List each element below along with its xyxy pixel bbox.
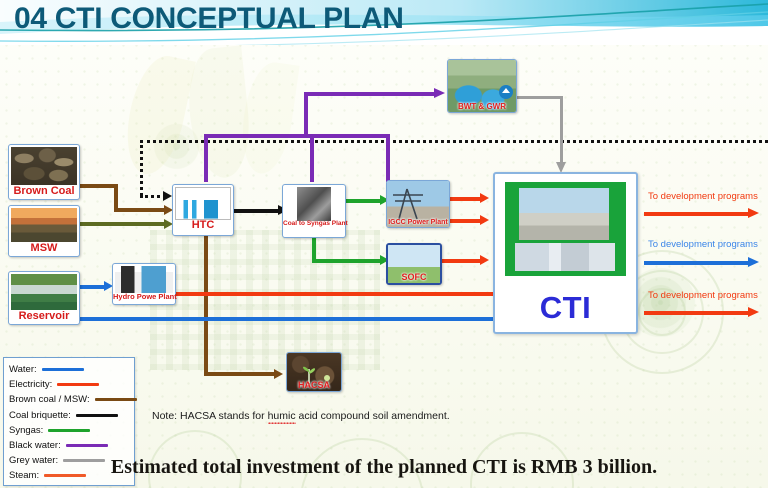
line-htc-to-syngasplant — [234, 209, 282, 213]
reservoir-image — [11, 274, 77, 310]
legend-label-syngas: Syngas: — [9, 425, 43, 436]
line-grey-down-to-cti — [560, 96, 563, 164]
legend-row-brown-coal-msw: Brown coal / MSW: — [9, 392, 134, 407]
line-sofc-to-cti — [440, 259, 484, 263]
line-syngas-to-sofc — [312, 259, 384, 263]
arrowhead-sofc-cti — [480, 255, 489, 265]
node-coal-to-syngas-plant-label: Coal to Syngas Plant — [283, 221, 345, 228]
output-label-1: To development programs — [648, 191, 758, 202]
htc-image — [175, 187, 231, 220]
node-htc[interactable]: HTC — [172, 184, 234, 236]
node-hacsa[interactable]: HACSA — [286, 352, 342, 392]
arrowhead-output-3 — [748, 307, 759, 317]
line-igcc-to-cti-2 — [450, 219, 484, 223]
cti-equipment-photo — [515, 243, 615, 271]
line-browncoal-to-htc — [114, 208, 166, 212]
line-reservoir-to-cti — [48, 317, 493, 321]
line-briquette-bus — [140, 140, 768, 143]
node-bwt-gwr[interactable]: BWT & GWR — [447, 59, 517, 113]
legend-swatch-water — [42, 368, 84, 371]
node-bwt-gwr-label: BWT & GWR — [448, 102, 516, 111]
arrowhead-igcc-cti-1 — [480, 193, 489, 203]
line-browncoal-down — [114, 184, 118, 210]
legend-row-electricity: Electricity: — [9, 377, 134, 392]
legend-label-coal-briquette: Coal briquette: — [9, 410, 71, 421]
line-htc-down-brown — [204, 236, 208, 375]
line-hydro-to-cti — [176, 292, 493, 296]
node-msw-label: MSW — [9, 243, 79, 255]
line-purple-sub-bus — [204, 134, 390, 138]
arrowhead-output-1 — [748, 208, 759, 218]
line-reservoir-to-hydro — [78, 285, 106, 289]
line-purple-up-to-bus — [304, 92, 308, 136]
cti-plant-photo — [519, 188, 609, 240]
node-hydro-power-plant-label: Hydro Powe Plant — [113, 293, 175, 301]
legend-label-brown-coal-msw: Brown coal / MSW: — [9, 394, 90, 405]
output-label-2: To development programs — [648, 239, 758, 250]
node-igcc-power-plant[interactable]: IGCC Power Plant — [386, 180, 450, 228]
line-htc-to-hacsa — [204, 372, 276, 376]
line-output-3 — [644, 311, 752, 315]
legend-row-water: Water: — [9, 362, 134, 377]
line-grey-from-bwt — [516, 96, 562, 99]
node-sofc-label: SOFC — [388, 272, 440, 282]
legend-swatch-electricity — [57, 383, 99, 386]
page-title: 04 CTI CONCEPTUAL PLAN — [14, 2, 404, 36]
node-hacsa-label: HACSA — [287, 380, 341, 390]
output-label-3: To development programs — [648, 290, 758, 301]
arrowhead-purple-bwt — [434, 88, 445, 98]
legend-swatch-black-water — [66, 444, 108, 447]
legend-row-syngas: Syngas: — [9, 423, 134, 438]
legend-row-black-water: Black water: — [9, 438, 134, 453]
line-purple-riser-htc — [204, 134, 208, 182]
msw-image — [11, 208, 77, 242]
brown-coal-image — [11, 147, 77, 185]
line-browncoal-right — [78, 184, 116, 188]
line-purple-riser-igcc — [386, 134, 390, 182]
arrowhead-htc-hacsa — [274, 369, 283, 379]
footer-statement: Estimated total investment of the planne… — [0, 456, 768, 479]
header-band: 04 CTI CONCEPTUAL PLAN — [0, 0, 768, 45]
node-hydro-power-plant[interactable]: Hydro Powe Plant — [112, 263, 176, 305]
legend-row-coal-briquette: Coal briquette: — [9, 408, 134, 423]
arrowhead-briquette-htc — [163, 191, 172, 201]
line-syngas-to-igcc — [346, 199, 384, 203]
cti-image — [505, 182, 626, 276]
node-brown-coal[interactable]: Brown Coal — [8, 144, 80, 200]
legend-label-electricity: Electricity: — [9, 379, 52, 390]
note-text: Note: HACSA stands for humic acid compou… — [152, 410, 450, 422]
line-output-2 — [644, 261, 752, 265]
node-htc-label: HTC — [173, 220, 233, 232]
note-highlight: humic — [268, 410, 296, 426]
node-msw[interactable]: MSW — [8, 205, 80, 257]
legend-swatch-brown-coal-msw — [95, 398, 137, 401]
line-igcc-to-cti-1 — [450, 197, 484, 201]
background-building-block — [150, 230, 380, 370]
node-cti-label: CTI — [495, 290, 636, 326]
node-coal-to-syngas-plant[interactable]: Coal to Syngas Plant — [282, 184, 346, 238]
hydro-power-plant-image — [115, 266, 173, 293]
legend-label-water: Water: — [9, 364, 37, 375]
line-output-1 — [644, 212, 752, 216]
arrowhead-output-2 — [748, 257, 759, 267]
legend-label-black-water: Black water: — [9, 440, 61, 451]
line-purple-top-bus — [304, 92, 438, 96]
line-msw-right — [78, 222, 166, 226]
note-suffix: acid compound soil amendment. — [296, 410, 450, 422]
line-briquette-down — [140, 140, 143, 196]
node-reservoir-label: Reservoir — [9, 311, 79, 323]
arrowhead-igcc-cti-2 — [480, 215, 489, 225]
legend-swatch-syngas — [48, 429, 90, 432]
line-purple-riser-syngas — [310, 134, 314, 182]
slide-canvas: 04 CTI CONCEPTUAL PLAN — [0, 0, 768, 488]
legend-swatch-coal-briquette — [76, 414, 118, 417]
note-prefix: Note: HACSA stands for — [152, 410, 268, 422]
recycle-icon — [498, 84, 514, 100]
node-cti[interactable]: CTI — [493, 172, 638, 334]
node-brown-coal-label: Brown Coal — [9, 186, 79, 198]
node-reservoir[interactable]: Reservoir — [8, 271, 80, 325]
node-sofc[interactable]: SOFC — [386, 243, 442, 285]
coal-to-syngas-plant-image — [297, 187, 331, 221]
node-igcc-power-plant-label: IGCC Power Plant — [387, 219, 449, 226]
